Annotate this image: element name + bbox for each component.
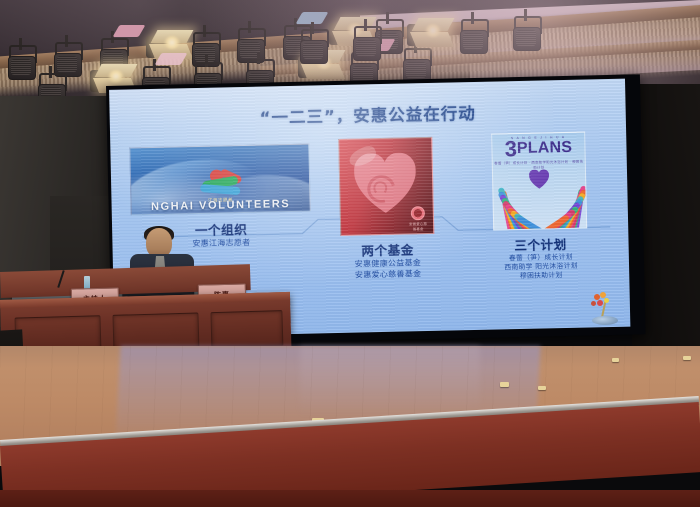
slide-title: “一二三”，安惠公益在行动	[109, 97, 625, 132]
three-plans-wordmark: 3PLANS	[492, 139, 584, 159]
floor-debris-4	[612, 358, 619, 362]
floor-debris-3	[538, 386, 546, 390]
three-plans-subline: 春蕾（笋）成长计划 · 西南助学阳光沐浴计划 · 穆困扶助计划	[493, 159, 585, 171]
stage-apron-base	[0, 490, 700, 507]
slide-column-plans: S A N G E J I H U A 3PLANS 春蕾（笋）成长计划 · 西…	[458, 131, 621, 282]
table-panel-3	[210, 310, 283, 348]
stage-photo: “一二三”，安惠公益在行动 江海志愿者 NGHAI VOLU	[0, 0, 700, 507]
jianghai-volunteers-banner-image: 江海志愿者 NGHAI VOLUNTEERS	[129, 144, 310, 216]
floor-debris-2	[500, 382, 509, 387]
floor-debris-5	[683, 356, 691, 360]
red-heart-poster-image: 安惠爱心慈善基金	[338, 137, 434, 236]
slide-column-funds: 安惠爱心慈善基金 两个基金 安惠健康公益基金 安惠爱心慈善基金	[310, 136, 463, 281]
column-line-funds-2: 安惠爱心慈善基金	[313, 268, 463, 282]
flower-stand	[588, 292, 622, 326]
raised-hands-graphic	[493, 176, 586, 230]
three-plans-poster-image: S A N G E J I H U A 3PLANS 春蕾（笋）成长计划 · 西…	[491, 132, 587, 231]
volunteer-logo-icon: 江海志愿者	[194, 170, 247, 199]
charity-fund-logo-icon: 安惠爱心慈善基金	[408, 206, 428, 228]
three-plans-word: PLANS	[517, 139, 573, 158]
three-plans-number: 3	[505, 140, 518, 158]
